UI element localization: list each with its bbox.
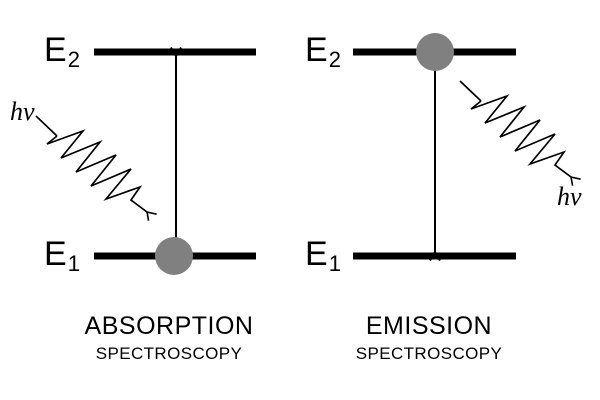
absorption-photon-lead-line [36, 116, 57, 136]
absorption-level-label-E1-base: E [44, 235, 67, 273]
emission-level-label-E1-subscript: 1 [328, 251, 341, 276]
emission-photon-label: hv [557, 184, 582, 210]
emission-caption-sub: SPECTROSCOPY [356, 345, 503, 362]
emission-level-label-E2-base: E [305, 31, 328, 69]
emission-level-label-E1: E1 [305, 237, 341, 275]
absorption-level-label-E2-base: E [44, 31, 67, 69]
emission-caption-main: EMISSION [366, 314, 492, 339]
energy-level-diagram: E2 E1 hv ABSORPTION SPECTROSCOPY E2 E1 h… [0, 0, 600, 400]
absorption-caption-main: ABSORPTION [85, 314, 254, 339]
absorption-level-label-E2-subscript: 2 [67, 47, 80, 72]
absorption-level-label-E2: E2 [44, 33, 80, 71]
emission-level-label-E2: E2 [305, 33, 341, 71]
absorption-level-label-E1-subscript: 1 [67, 251, 80, 276]
absorption-photon-label: hv [10, 99, 35, 125]
absorption-photon-wave [47, 131, 147, 212]
absorption-particle [155, 237, 193, 275]
emission-particle [416, 33, 454, 71]
diagram-graphics [0, 0, 600, 400]
emission-photon-wave [471, 96, 571, 177]
absorption-level-label-E1: E1 [44, 237, 80, 275]
emission-photon-lead-line [460, 81, 481, 101]
absorption-caption-sub: SPECTROSCOPY [96, 345, 243, 362]
emission-level-label-E2-subscript: 2 [328, 47, 341, 72]
emission-level-label-E1-base: E [305, 235, 328, 273]
